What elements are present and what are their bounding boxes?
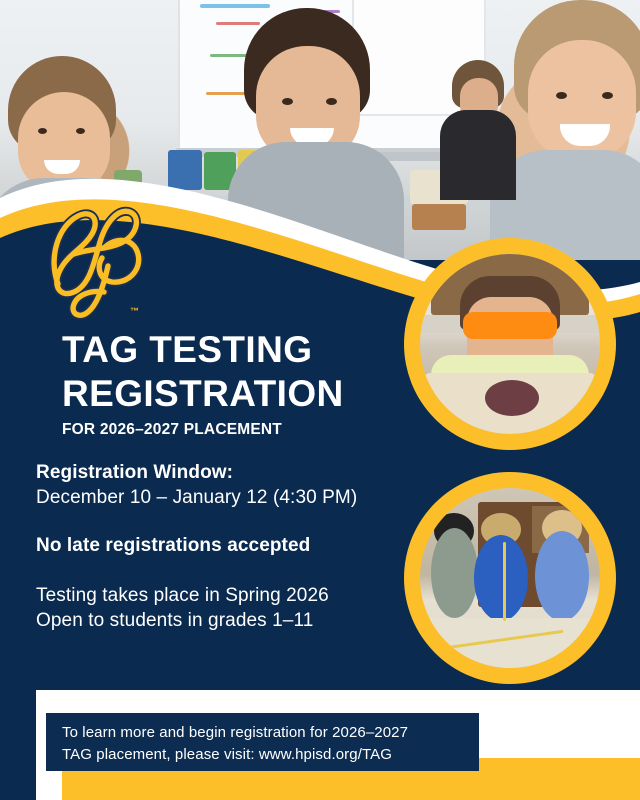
page-title: TAG TESTING REGISTRATION [62,328,392,416]
registration-window-dates: December 10 – January 12 (4:30 PM) [36,485,396,510]
footer-line-2[interactable]: TAG placement, please visit: www.hpisd.o… [62,744,472,766]
title-line-2: REGISTRATION [62,372,392,416]
footer-line-1: To learn more and begin registration for… [62,722,472,744]
tag-testing-registration-poster: ™ TAG TESTING REGISTRATION FOR 2026–2027… [0,0,640,800]
science-lab-photo-circle [404,238,616,450]
footer-text: To learn more and begin registration for… [62,722,472,766]
title-line-1: TAG TESTING [62,328,392,372]
stem-activity-photo-circle [404,472,616,684]
hp-logo: ™ [34,192,166,328]
no-late-registrations-note: No late registrations accepted [36,533,396,558]
testing-timeframe: Testing takes place in Spring 2026 [36,583,396,608]
details-block: Registration Window: December 10 – Janua… [36,460,396,633]
page-subtitle: FOR 2026–2027 PLACEMENT [62,421,402,439]
registration-window-label: Registration Window: [36,460,396,485]
eligibility-grades: Open to students in grades 1–11 [36,608,396,633]
trademark-mark: ™ [130,306,139,316]
